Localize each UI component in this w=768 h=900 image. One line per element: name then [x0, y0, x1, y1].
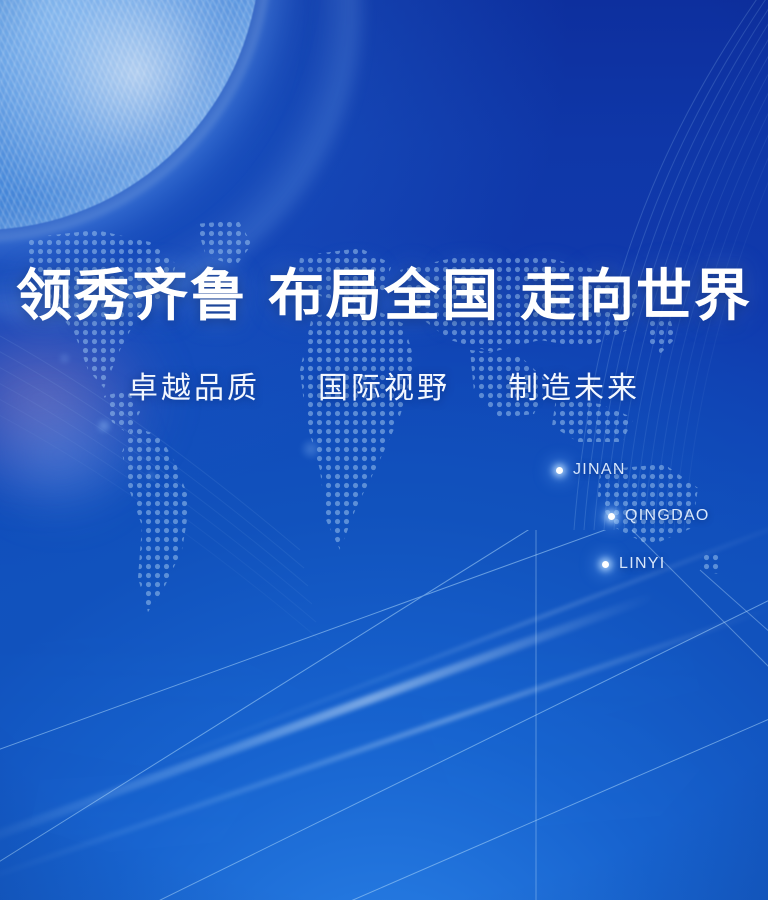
city-marker-qingdao[interactable]: QINGDAO — [608, 507, 710, 525]
subtitle-segment-1: 卓越品质 — [128, 372, 260, 405]
headline-segment-2: 布局全国 — [268, 266, 500, 328]
headline-segment-1: 领秀齐鲁 — [16, 266, 248, 328]
page-subtitle: 卓越品质国际视野制造未来 — [0, 370, 768, 408]
city-marker-linyi[interactable]: LINYI — [602, 555, 666, 573]
subtitle-segment-2: 国际视野 — [318, 372, 450, 405]
city-dot-icon — [602, 561, 609, 568]
headline-segment-3: 走向世界 — [520, 266, 752, 328]
city-marker-jinan[interactable]: JINAN — [556, 461, 626, 479]
subtitle-segment-3: 制造未来 — [508, 372, 640, 405]
city-label-linyi: LINYI — [619, 555, 666, 573]
banner-copy: 领秀齐鲁布局全国走向世界 卓越品质国际视野制造未来 JINAN QINGDAO … — [0, 0, 768, 900]
city-label-jinan: JINAN — [573, 461, 626, 479]
city-dot-icon — [556, 467, 563, 474]
city-label-qingdao: QINGDAO — [625, 507, 710, 525]
city-dot-icon — [608, 513, 615, 520]
hero-banner: 领秀齐鲁布局全国走向世界 卓越品质国际视野制造未来 JINAN QINGDAO … — [0, 0, 768, 900]
page-title: 领秀齐鲁布局全国走向世界 — [0, 266, 768, 328]
